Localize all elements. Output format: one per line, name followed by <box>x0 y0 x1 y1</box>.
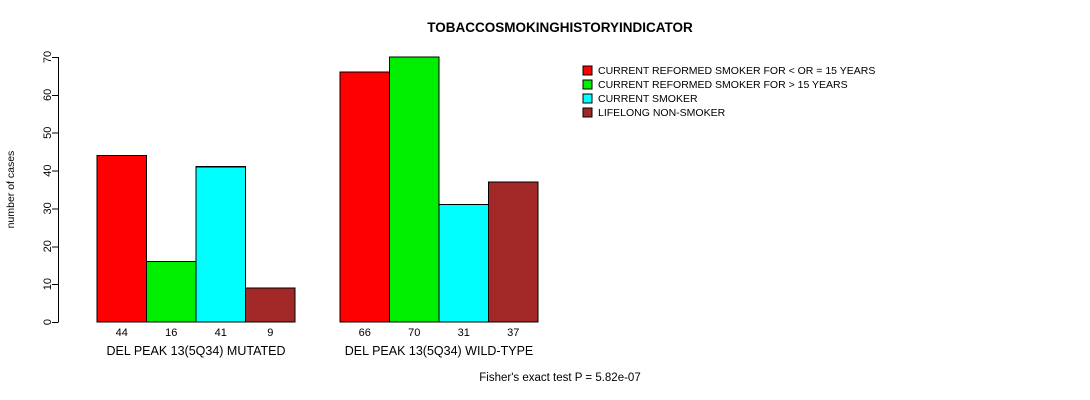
group-axis-label: DEL PEAK 13(5Q34) WILD-TYPE <box>345 344 534 358</box>
y-axis-tick-label: 70 <box>42 51 54 63</box>
bar-value-label: 9 <box>267 327 273 339</box>
bar <box>196 167 246 322</box>
group-axis-label: DEL PEAK 13(5Q34) MUTATED <box>107 344 286 358</box>
legend-swatch <box>583 94 592 103</box>
bar-value-label: 37 <box>507 327 519 339</box>
chart-container: TOBACCOSMOKINGHISTORYINDICATOR0102030405… <box>0 0 1090 400</box>
bar <box>97 155 147 322</box>
y-axis-tick-label: 50 <box>42 127 54 139</box>
bar-value-label: 41 <box>215 327 227 339</box>
legend-swatch <box>583 80 592 89</box>
bar-value-label: 31 <box>458 327 470 339</box>
bar <box>439 205 489 322</box>
legend-label: CURRENT SMOKER <box>598 93 698 105</box>
bar <box>246 288 296 322</box>
y-axis-tick-label: 60 <box>42 89 54 101</box>
bar-chart: TOBACCOSMOKINGHISTORYINDICATOR0102030405… <box>0 0 1090 400</box>
y-axis-tick-label: 0 <box>42 319 54 325</box>
legend-label: CURRENT REFORMED SMOKER FOR > 15 YEARS <box>598 79 848 91</box>
y-axis-tick-label: 20 <box>42 240 54 252</box>
bar <box>147 261 197 322</box>
legend-swatch <box>583 66 592 75</box>
y-axis-tick-label: 40 <box>42 164 54 176</box>
bar-value-label: 70 <box>408 327 420 339</box>
bar-value-label: 66 <box>359 327 371 339</box>
y-axis-title: number of cases <box>5 151 17 229</box>
bar <box>390 57 440 322</box>
legend-label: CURRENT REFORMED SMOKER FOR < OR = 15 YE… <box>598 65 875 77</box>
bar <box>489 182 539 322</box>
legend-swatch <box>583 108 592 117</box>
y-axis-tick-label: 30 <box>42 202 54 214</box>
bar-value-label: 44 <box>116 327 128 339</box>
footer-annotation: Fisher's exact test P = 5.82e-07 <box>479 372 640 384</box>
bar-value-label: 16 <box>165 327 177 339</box>
bar <box>340 72 390 322</box>
chart-title: TOBACCOSMOKINGHISTORYINDICATOR <box>427 20 693 35</box>
legend-label: LIFELONG NON-SMOKER <box>598 107 726 119</box>
y-axis-tick-label: 10 <box>42 278 54 290</box>
